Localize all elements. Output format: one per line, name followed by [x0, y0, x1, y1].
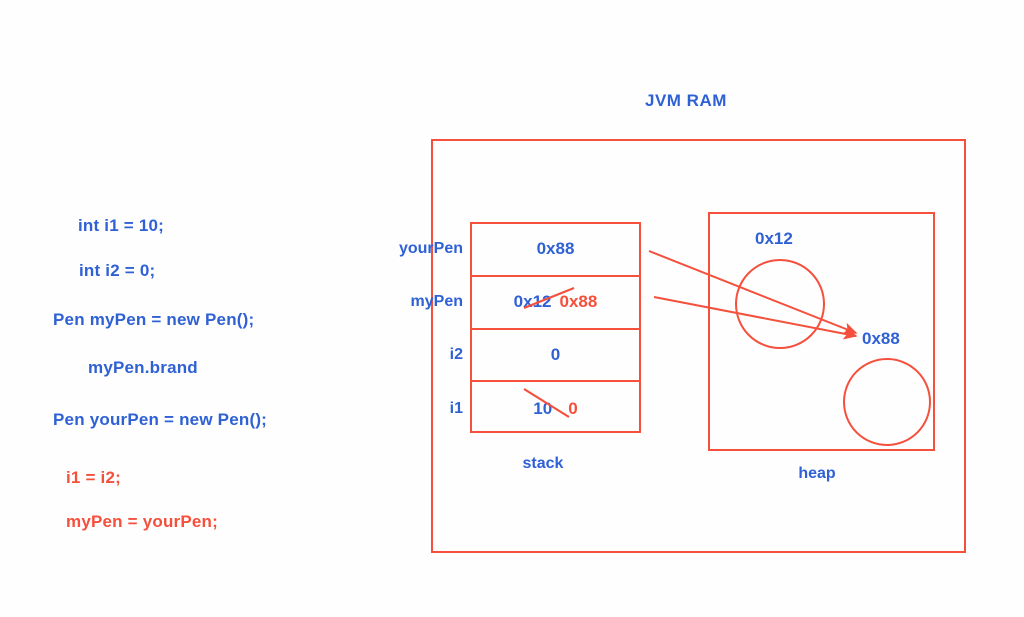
- stack-row-new-value: 0: [568, 399, 577, 419]
- heap-object-label-0x12: 0x12: [755, 229, 793, 249]
- heap-object-circle: [735, 259, 825, 349]
- stack-row-new-value: 0x88: [560, 292, 598, 312]
- code-line-6: i1 = i2;: [66, 468, 121, 488]
- code-line-4: myPen.brand: [88, 358, 198, 378]
- stack-row-value: 0x88: [537, 239, 575, 259]
- heap-box: [708, 212, 935, 451]
- heap-caption: heap: [767, 465, 867, 483]
- stack-row-label: i1: [450, 400, 463, 418]
- stack-box: yourPen 0x88 myPen 0x12 0x88 i2 0 i1 10 …: [470, 222, 641, 433]
- stack-row: yourPen 0x88: [472, 224, 639, 277]
- code-line-5: Pen yourPen = new Pen();: [53, 410, 267, 430]
- heap-object-circle: [843, 358, 931, 446]
- stack-row-value: 10: [533, 399, 552, 419]
- code-line-2: int i2 = 0;: [79, 261, 155, 281]
- diagram-canvas: int i1 = 10; int i2 = 0; Pen myPen = new…: [0, 0, 1024, 617]
- stack-row: myPen 0x12 0x88: [472, 277, 639, 330]
- code-line-1: int i1 = 10;: [78, 216, 164, 236]
- stack-row: i2 0: [472, 330, 639, 383]
- diagram-title: JVM RAM: [645, 91, 727, 111]
- stack-row-label: myPen: [411, 293, 463, 311]
- stack-row-value: 0: [551, 345, 560, 365]
- code-line-7: myPen = yourPen;: [66, 512, 218, 532]
- heap-object-label-0x88: 0x88: [862, 329, 900, 349]
- stack-row-label: i2: [450, 346, 463, 364]
- stack-caption: stack: [493, 455, 593, 473]
- code-line-3: Pen myPen = new Pen();: [53, 310, 254, 330]
- stack-row-value: 0x12: [514, 292, 552, 312]
- stack-row-label: yourPen: [399, 240, 463, 258]
- stack-row: i1 10 0: [472, 382, 639, 435]
